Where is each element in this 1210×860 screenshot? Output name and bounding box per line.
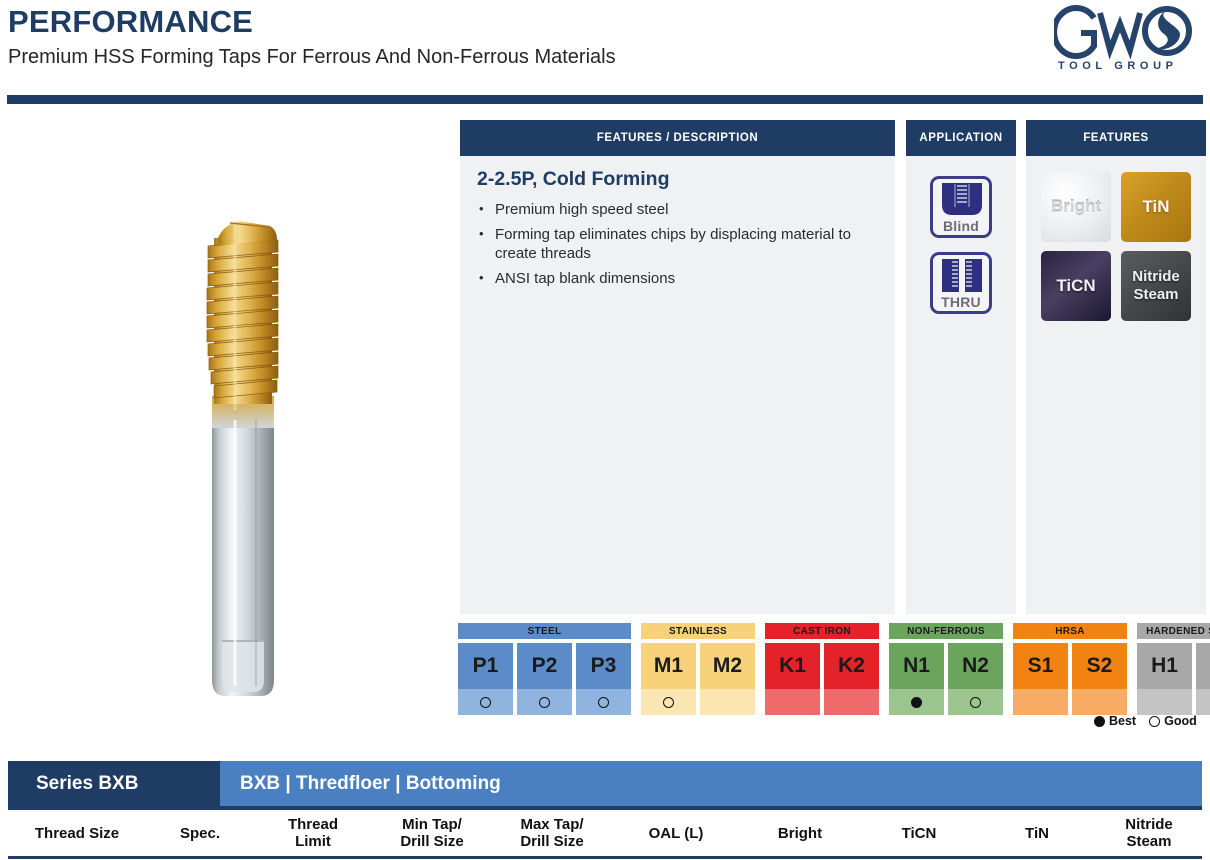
material-cell-n2: N2: [948, 643, 1003, 715]
material-group-stainless: STAINLESSM1M2: [641, 623, 755, 639]
table-column-header: Spec.: [146, 810, 254, 856]
features-description-header: FEATURES / DESCRIPTION: [460, 120, 895, 156]
material-rating: [824, 689, 879, 715]
material-cells: P1P2P3: [458, 643, 631, 715]
good-dot-icon: [539, 697, 550, 708]
material-group-cast-iron: CAST IRONK1K2: [765, 623, 879, 639]
page-subtitle: Premium HSS Forming Taps For Ferrous And…: [8, 46, 616, 69]
material-cell-p3: P3: [576, 643, 631, 715]
material-code: M2: [700, 643, 755, 689]
material-cells: K1K2: [765, 643, 879, 715]
material-application-matrix: STEELP1P2P3STAINLESSM1M2CAST IRONK1K2NON…: [458, 623, 1206, 711]
material-rating: [700, 689, 755, 715]
product-image-area: [8, 112, 452, 712]
coating-swatch-ticn: TiCN: [1041, 251, 1111, 321]
material-cells: M1M2: [641, 643, 755, 715]
material-cell-s2: S2: [1072, 643, 1127, 715]
catalog-page: PERFORMANCE Premium HSS Forming Taps For…: [0, 0, 1210, 860]
material-rating: [1072, 689, 1127, 715]
table-column-header: NitrideSteam: [1096, 810, 1202, 856]
best-dot-icon: [911, 697, 922, 708]
material-cell-h1: H1: [1137, 643, 1192, 715]
good-dot-icon: [480, 697, 491, 708]
table-column-header: ThreadLimit: [254, 810, 372, 856]
table-column-header: OAL (L): [612, 810, 740, 856]
material-rating: [889, 689, 944, 715]
coating-swatch-nitride-steam: Nitride Steam: [1121, 251, 1191, 321]
good-dot-icon: [1149, 716, 1160, 727]
thru-hole-label: THRU: [933, 294, 989, 310]
material-cells: S1S2: [1013, 643, 1127, 715]
material-cell-h2: H2: [1196, 643, 1210, 715]
legend-best: Best: [1094, 714, 1136, 728]
description-title: 2-2.5P, Cold Forming: [477, 168, 670, 191]
blind-hole-label: Blind: [933, 218, 989, 234]
material-group-label: HARDENED STEEL: [1137, 623, 1210, 639]
material-rating: [458, 689, 513, 715]
material-rating: [1137, 689, 1192, 715]
coating-swatch-bright: Bright: [1041, 172, 1111, 242]
material-rating: [1013, 689, 1068, 715]
material-code: K1: [765, 643, 820, 689]
legend-good-label: Good: [1164, 714, 1197, 728]
material-group-steel: STEELP1P2P3: [458, 623, 631, 639]
material-cell-p1: P1: [458, 643, 513, 715]
material-rating: [576, 689, 631, 715]
header-divider: [7, 95, 1203, 104]
series-description: BXB | Thredfloer | Bottoming: [220, 761, 1202, 806]
material-cell-m1: M1: [641, 643, 696, 715]
thru-hole-glyph: [940, 259, 984, 293]
material-group-label: STAINLESS: [641, 623, 755, 639]
material-code: H2: [1196, 643, 1210, 689]
material-cell-p2: P2: [517, 643, 572, 715]
material-cells: N1N2: [889, 643, 1003, 715]
material-group-non-ferrous: NON-FERROUSN1N2: [889, 623, 1003, 639]
material-code: S2: [1072, 643, 1127, 689]
material-group-label: CAST IRON: [765, 623, 879, 639]
best-dot-icon: [1094, 716, 1105, 727]
material-code: P1: [458, 643, 513, 689]
material-cell-k1: K1: [765, 643, 820, 715]
material-cell-k2: K2: [824, 643, 879, 715]
gws-wordmark: TOOL GROUP: [1058, 60, 1178, 72]
thru-hole-icon: THRU: [930, 252, 992, 314]
good-dot-icon: [970, 697, 981, 708]
list-item: ANSI tap blank dimensions: [477, 269, 877, 288]
blind-hole-icon: Blind: [930, 176, 992, 238]
material-group-hardened-steel: HARDENED STEELH1H2: [1137, 623, 1210, 639]
table-column-header: Bright: [740, 810, 860, 856]
application-header: APPLICATION: [906, 120, 1016, 156]
material-code: N1: [889, 643, 944, 689]
material-rating: [1196, 689, 1210, 715]
material-group-label: HRSA: [1013, 623, 1127, 639]
material-code: H1: [1137, 643, 1192, 689]
features-header: FEATURES: [1026, 120, 1206, 156]
material-rating: [641, 689, 696, 715]
material-code: M1: [641, 643, 696, 689]
gws-logo: TOOL GROUP: [1046, 4, 1206, 76]
material-rating: [948, 689, 1003, 715]
material-cells: H1H2: [1137, 643, 1210, 715]
material-cell-s1: S1: [1013, 643, 1068, 715]
list-item: Forming tap eliminates chips by displaci…: [477, 225, 877, 263]
coating-swatch-tin: TiN: [1121, 172, 1191, 242]
table-column-header: TiN: [978, 810, 1096, 856]
legend-good: Good: [1149, 714, 1197, 728]
blind-hole-glyph: [940, 183, 984, 217]
material-code: P2: [517, 643, 572, 689]
material-cell-m2: M2: [700, 643, 755, 715]
forming-tap-image: [178, 120, 308, 712]
table-header-bottom-rule: [8, 856, 1202, 859]
material-code: N2: [948, 643, 1003, 689]
table-column-header: Min Tap/Drill Size: [372, 810, 492, 856]
good-dot-icon: [598, 697, 609, 708]
material-code: K2: [824, 643, 879, 689]
legend-best-label: Best: [1109, 714, 1136, 728]
material-group-label: NON-FERROUS: [889, 623, 1003, 639]
material-code: S1: [1013, 643, 1068, 689]
material-rating: [765, 689, 820, 715]
material-cell-n1: N1: [889, 643, 944, 715]
material-group-hrsa: HRSAS1S2: [1013, 623, 1127, 639]
description-bullet-list: Premium high speed steel Forming tap eli…: [477, 200, 877, 294]
good-dot-icon: [663, 697, 674, 708]
material-code: P3: [576, 643, 631, 689]
gws-logo-mark: [1054, 4, 1200, 60]
table-column-header: Thread Size: [8, 810, 146, 856]
matrix-legend: Best Good: [1094, 714, 1197, 728]
table-column-header: TiCN: [860, 810, 978, 856]
material-rating: [517, 689, 572, 715]
page-title: PERFORMANCE: [8, 4, 253, 40]
list-item: Premium high speed steel: [477, 200, 877, 219]
table-header-row: Thread SizeSpec.ThreadLimitMin Tap/Drill…: [8, 810, 1202, 856]
table-column-header: Max Tap/Drill Size: [492, 810, 612, 856]
series-tag: Series BXB: [8, 761, 220, 806]
material-group-label: STEEL: [458, 623, 631, 639]
